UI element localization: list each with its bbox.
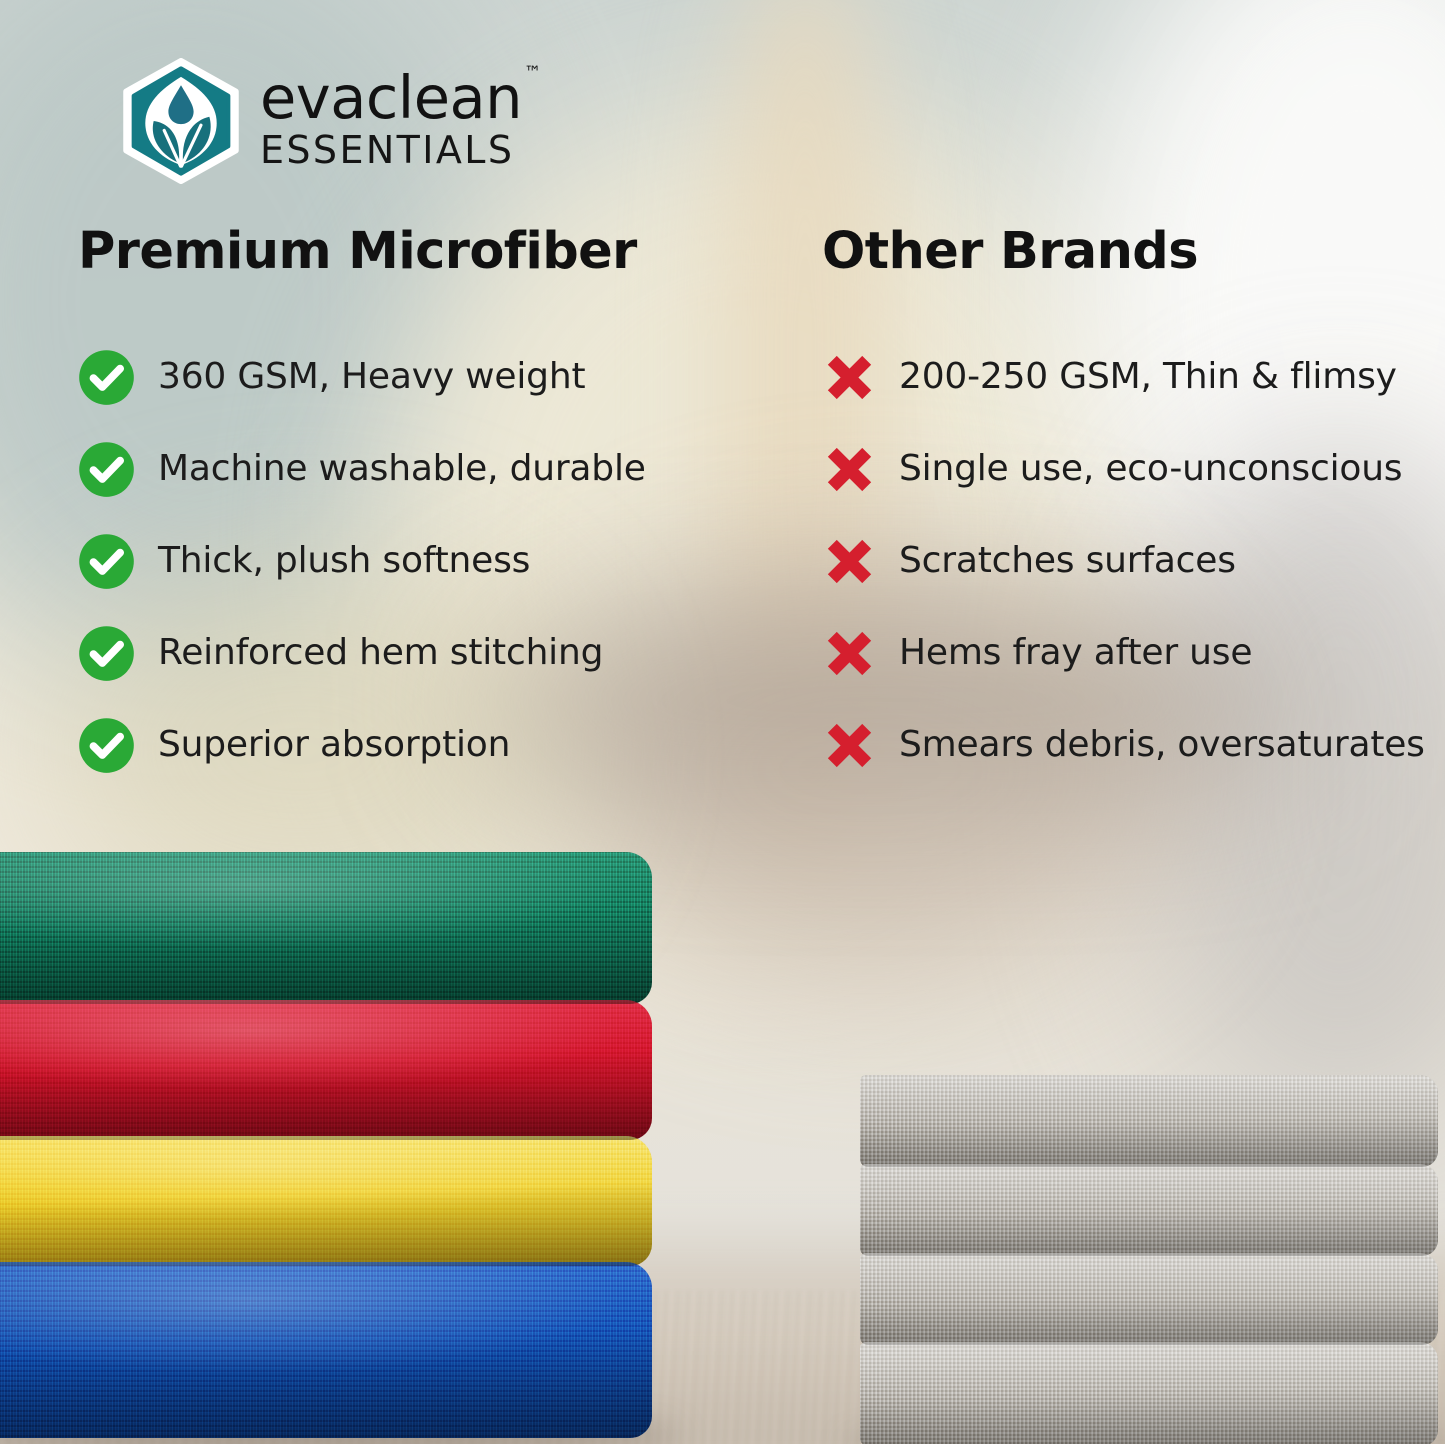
list-item-label: Thick, plush softness bbox=[158, 541, 530, 581]
list-item-label: Single use, eco-unconscious bbox=[899, 449, 1402, 489]
list-item: 200-250 GSM, Thin & flimsy bbox=[822, 331, 1432, 423]
column-title-other: Other Brands bbox=[822, 226, 1432, 277]
list-item-label: Superior absorption bbox=[158, 725, 510, 765]
list-item: Scratches surfaces bbox=[822, 515, 1432, 607]
list-item: 360 GSM, Heavy weight bbox=[78, 331, 768, 423]
towel-green bbox=[0, 852, 652, 1004]
list-item: Thick, plush softness bbox=[78, 515, 768, 607]
brand-name: evaclean™ bbox=[260, 70, 541, 127]
red-x-icon bbox=[822, 442, 877, 497]
towel-red bbox=[0, 1000, 652, 1140]
list-item-label: Smears debris, oversaturates bbox=[899, 725, 1425, 765]
list-item: Superior absorption bbox=[78, 699, 768, 791]
hexagon-droplet-leaves-icon bbox=[118, 58, 244, 184]
list-item-label: 360 GSM, Heavy weight bbox=[158, 357, 585, 397]
towel-gray bbox=[860, 1342, 1438, 1444]
list-item-label: Hems fray after use bbox=[899, 633, 1252, 673]
towel-blue bbox=[0, 1262, 652, 1438]
list-item-label: Machine washable, durable bbox=[158, 449, 646, 489]
premium-feature-list: 360 GSM, Heavy weight Machine washable, … bbox=[78, 331, 768, 791]
list-item-label: Reinforced hem stitching bbox=[158, 633, 603, 673]
list-item: Hems fray after use bbox=[822, 607, 1432, 699]
brand-name-text: evaclean bbox=[260, 63, 522, 132]
list-item-label: 200-250 GSM, Thin & flimsy bbox=[899, 357, 1397, 397]
trademark-symbol: ™ bbox=[524, 63, 541, 83]
other-brands-towel-stack bbox=[860, 1075, 1438, 1444]
towel-gray bbox=[860, 1253, 1438, 1345]
column-premium-microfiber: Premium Microfiber 360 GSM, Heavy weight… bbox=[78, 226, 768, 791]
list-item: Smears debris, oversaturates bbox=[822, 699, 1432, 791]
red-x-icon bbox=[822, 350, 877, 405]
towel-gray bbox=[860, 1075, 1438, 1167]
green-check-circle-icon bbox=[78, 625, 135, 682]
towel-gray bbox=[860, 1164, 1438, 1256]
red-x-icon bbox=[822, 718, 877, 773]
premium-towel-stack bbox=[0, 852, 652, 1438]
list-item: Machine washable, durable bbox=[78, 423, 768, 515]
green-check-circle-icon bbox=[78, 441, 135, 498]
other-brands-feature-list: 200-250 GSM, Thin & flimsy Single use, e… bbox=[822, 331, 1432, 791]
brand-subtitle: ESSENTIALS bbox=[260, 128, 541, 172]
red-x-icon bbox=[822, 626, 877, 681]
green-check-circle-icon bbox=[78, 717, 135, 774]
brand-logo: evaclean™ ESSENTIALS bbox=[118, 58, 541, 184]
green-check-circle-icon bbox=[78, 349, 135, 406]
list-item: Reinforced hem stitching bbox=[78, 607, 768, 699]
column-other-brands: Other Brands 200-250 GSM, Thin & flimsy … bbox=[822, 226, 1432, 791]
brand-wordmark: evaclean™ ESSENTIALS bbox=[260, 70, 541, 172]
column-title-premium: Premium Microfiber bbox=[78, 226, 768, 277]
towel-yellow bbox=[0, 1136, 652, 1266]
list-item: Single use, eco-unconscious bbox=[822, 423, 1432, 515]
red-x-icon bbox=[822, 534, 877, 589]
list-item-label: Scratches surfaces bbox=[899, 541, 1236, 581]
green-check-circle-icon bbox=[78, 533, 135, 590]
